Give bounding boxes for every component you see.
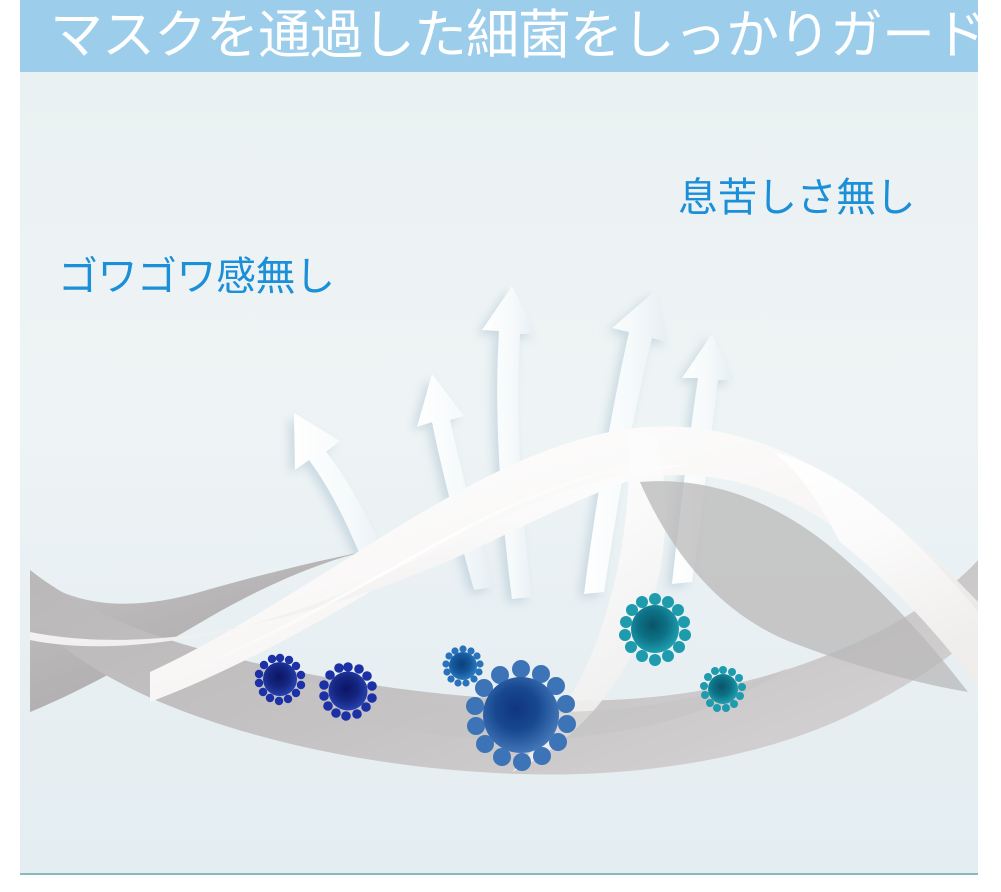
bottom-rule bbox=[20, 873, 978, 875]
callout-gowagowa: ゴワゴワ感無し bbox=[58, 257, 335, 297]
callout-ikigurushisa: 息苦しさ無し bbox=[678, 178, 915, 218]
germ-3 bbox=[442, 645, 483, 686]
banner-title: マスクを通過した細菌をしっかりガード bbox=[50, 9, 986, 62]
airflow-arrow-3 bbox=[482, 286, 536, 599]
header-banner: マスクを通過した細菌をしっかりガード bbox=[20, 0, 978, 72]
poster-root: マスクを通過した細菌をしっかりガード ゴワゴワ感無し 息苦しさ無し bbox=[0, 0, 1001, 892]
